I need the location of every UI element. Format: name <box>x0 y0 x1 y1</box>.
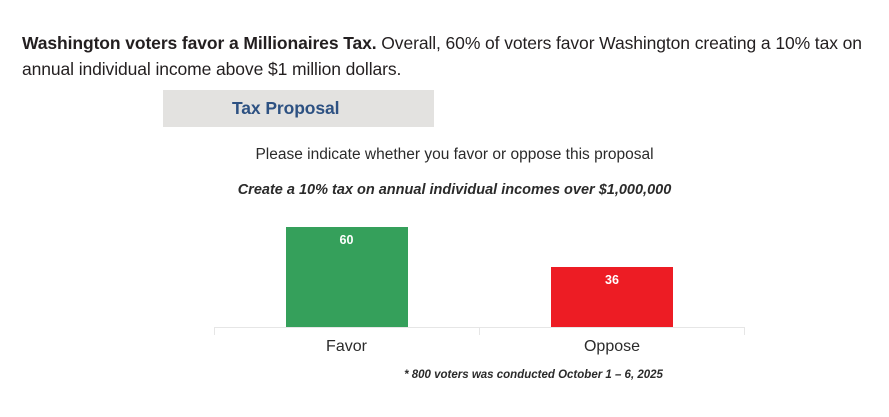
category-label-oppose: Oppose <box>479 338 745 356</box>
plot-area: 60 36 <box>214 210 745 327</box>
chart-question-row: Create a 10% tax on annual individual in… <box>0 182 889 198</box>
bar-slot-favor: 60 <box>214 210 479 327</box>
category-label-favor: Favor <box>214 338 479 356</box>
bar-value-favor: 60 <box>286 233 408 247</box>
category-axis-labels: Favor Oppose <box>214 338 745 362</box>
chart-title-bar: Tax Proposal <box>163 90 434 127</box>
chart-title: Tax Proposal <box>232 98 339 119</box>
bar-favor: 60 <box>286 227 408 327</box>
bar-slot-oppose: 36 <box>479 210 745 327</box>
bar-value-oppose: 36 <box>551 273 673 287</box>
axis-tick-middle <box>479 327 480 335</box>
headline-paragraph: Washington voters favor a Millionaires T… <box>22 30 867 82</box>
chart-question: Create a 10% tax on annual individual in… <box>238 182 672 198</box>
chart-footnote-row: * 800 voters was conducted October 1 – 6… <box>214 369 745 381</box>
chart-subtitle: Please indicate whether you favor or opp… <box>255 146 653 164</box>
chart-subtitle-row: Please indicate whether you favor or opp… <box>0 146 889 164</box>
chart-footnote: * 800 voters was conducted October 1 – 6… <box>404 369 663 381</box>
chart-card: Tax Proposal Please indicate whether you… <box>0 80 889 417</box>
bar-oppose: 36 <box>551 267 673 327</box>
headline-lead: Washington voters favor a Millionaires T… <box>22 33 377 53</box>
axis-tick-end <box>744 327 745 335</box>
axis-tick-start <box>214 327 215 335</box>
